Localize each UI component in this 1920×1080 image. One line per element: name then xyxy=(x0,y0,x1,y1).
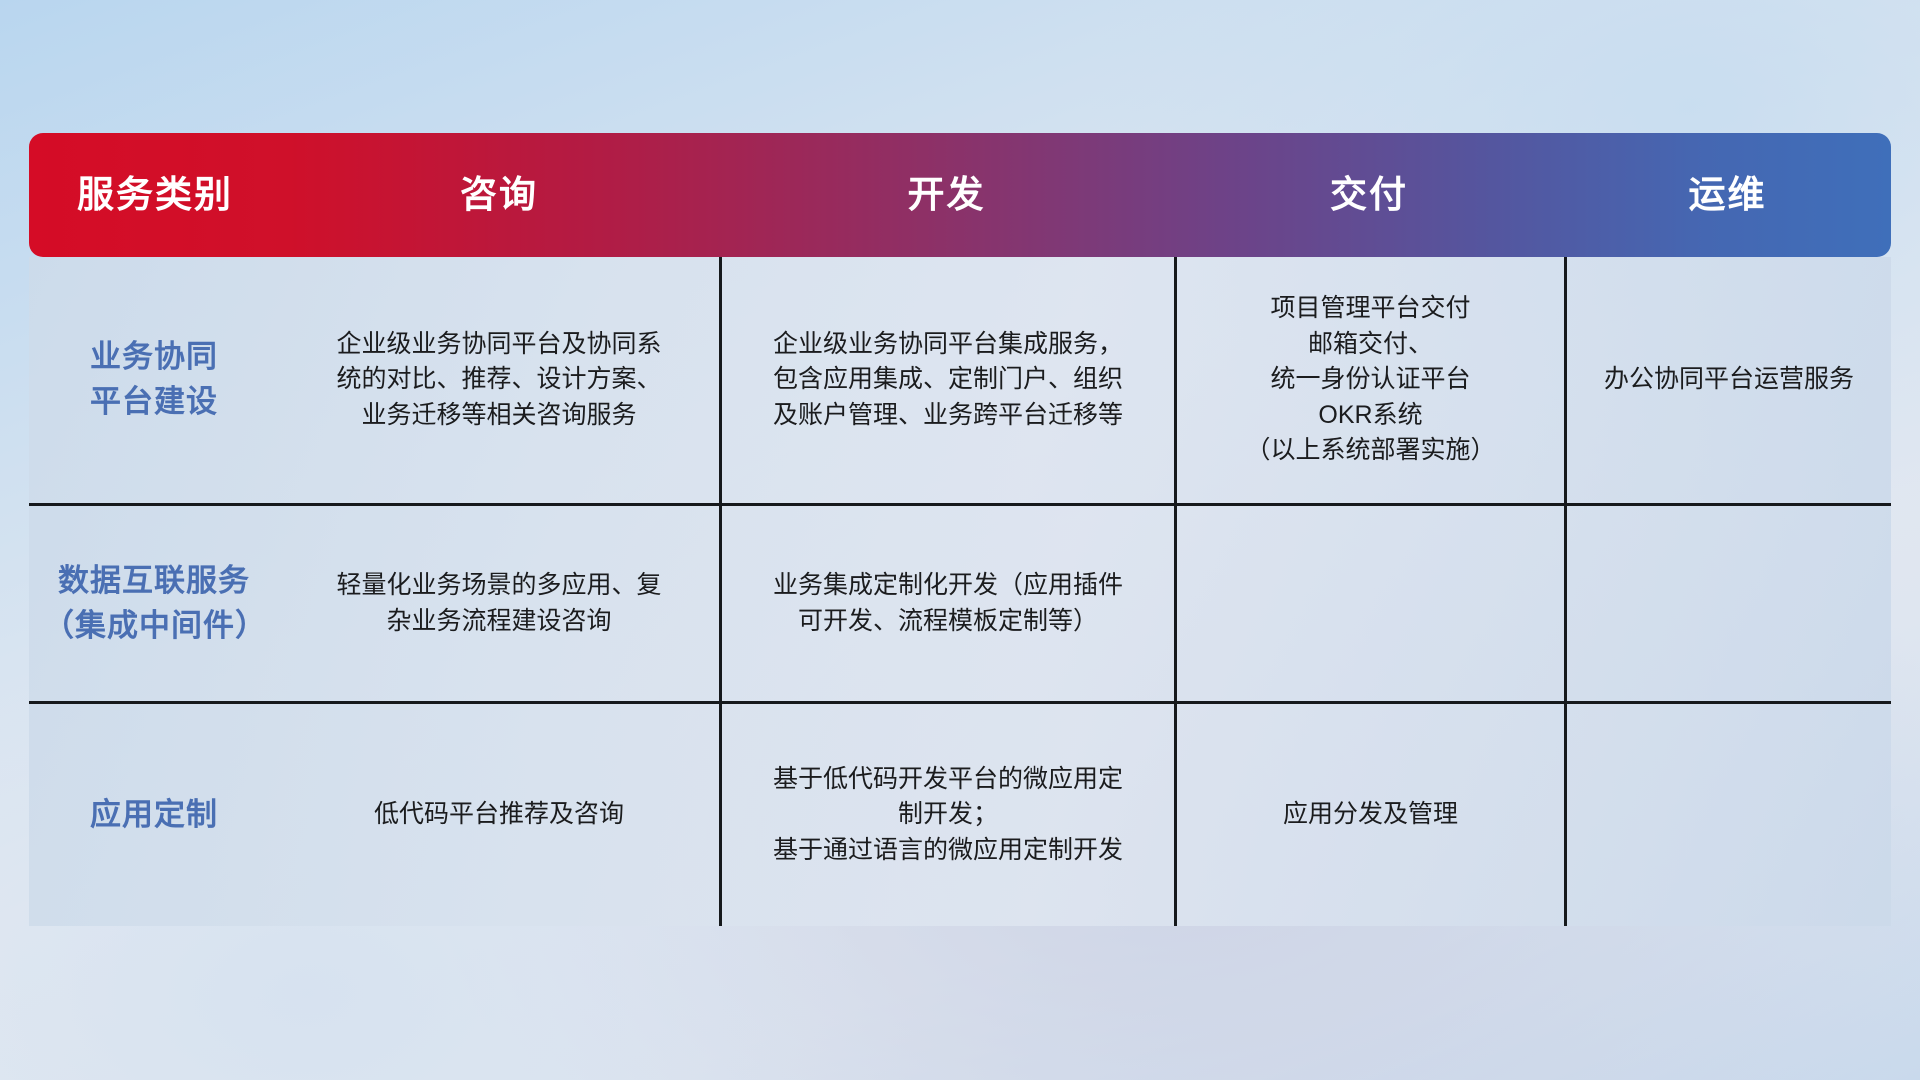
cell-operations xyxy=(1564,506,1891,701)
header-cell-development: 开发 xyxy=(719,175,1174,216)
row-label-cell: 业务协同 平台建设 xyxy=(29,257,279,503)
cell-operations xyxy=(1564,704,1891,926)
cell-delivery: 应用分发及管理 xyxy=(1174,704,1564,926)
row-label-cell: 数据互联服务 （集成中间件） xyxy=(29,506,279,701)
row-label-cell: 应用定制 xyxy=(29,704,279,926)
cell-development: 基于低代码开发平台的微应用定 制开发； 基于通过语言的微应用定制开发 xyxy=(719,704,1174,926)
cell-consulting: 企业级业务协同平台及协同系 统的对比、推荐、设计方案、 业务迁移等相关咨询服务 xyxy=(279,257,719,503)
header-cell-service-category: 服务类别 xyxy=(29,175,279,216)
table-header-row: 服务类别 咨询 开发 交付 运维 xyxy=(29,133,1891,257)
row-label-text: 应用定制 xyxy=(90,793,218,838)
service-matrix-table: 服务类别 咨询 开发 交付 运维 业务协同 平台建设 企业级业务协同平台及协同系… xyxy=(29,133,1891,953)
table-body: 业务协同 平台建设 企业级业务协同平台及协同系 统的对比、推荐、设计方案、 业务… xyxy=(29,257,1891,926)
header-cell-consulting: 咨询 xyxy=(279,175,719,216)
row-label-text: 数据互联服务 （集成中间件） xyxy=(43,559,265,649)
cell-consulting: 低代码平台推荐及咨询 xyxy=(279,704,719,926)
table-row: 应用定制 低代码平台推荐及咨询 基于低代码开发平台的微应用定 制开发； 基于通过… xyxy=(29,701,1891,926)
header-cell-operations: 运维 xyxy=(1564,175,1891,216)
cell-operations: 办公协同平台运营服务 xyxy=(1564,257,1891,503)
header-cell-delivery: 交付 xyxy=(1174,175,1564,216)
cell-delivery xyxy=(1174,506,1564,701)
cell-development: 企业级业务协同平台集成服务， 包含应用集成、定制门户、组织 及账户管理、业务跨平… xyxy=(719,257,1174,503)
cell-delivery: 项目管理平台交付 邮箱交付、 统一身份认证平台 OKR系统 （以上系统部署实施） xyxy=(1174,257,1564,503)
table-row: 数据互联服务 （集成中间件） 轻量化业务场景的多应用、复 杂业务流程建设咨询 业… xyxy=(29,503,1891,701)
table-row: 业务协同 平台建设 企业级业务协同平台及协同系 统的对比、推荐、设计方案、 业务… xyxy=(29,257,1891,503)
row-label-text: 业务协同 平台建设 xyxy=(90,335,218,425)
slide-canvas: 服务类别 咨询 开发 交付 运维 业务协同 平台建设 企业级业务协同平台及协同系… xyxy=(0,0,1920,1080)
cell-consulting: 轻量化业务场景的多应用、复 杂业务流程建设咨询 xyxy=(279,506,719,701)
cell-development: 业务集成定制化开发（应用插件 可开发、流程模板定制等） xyxy=(719,506,1174,701)
